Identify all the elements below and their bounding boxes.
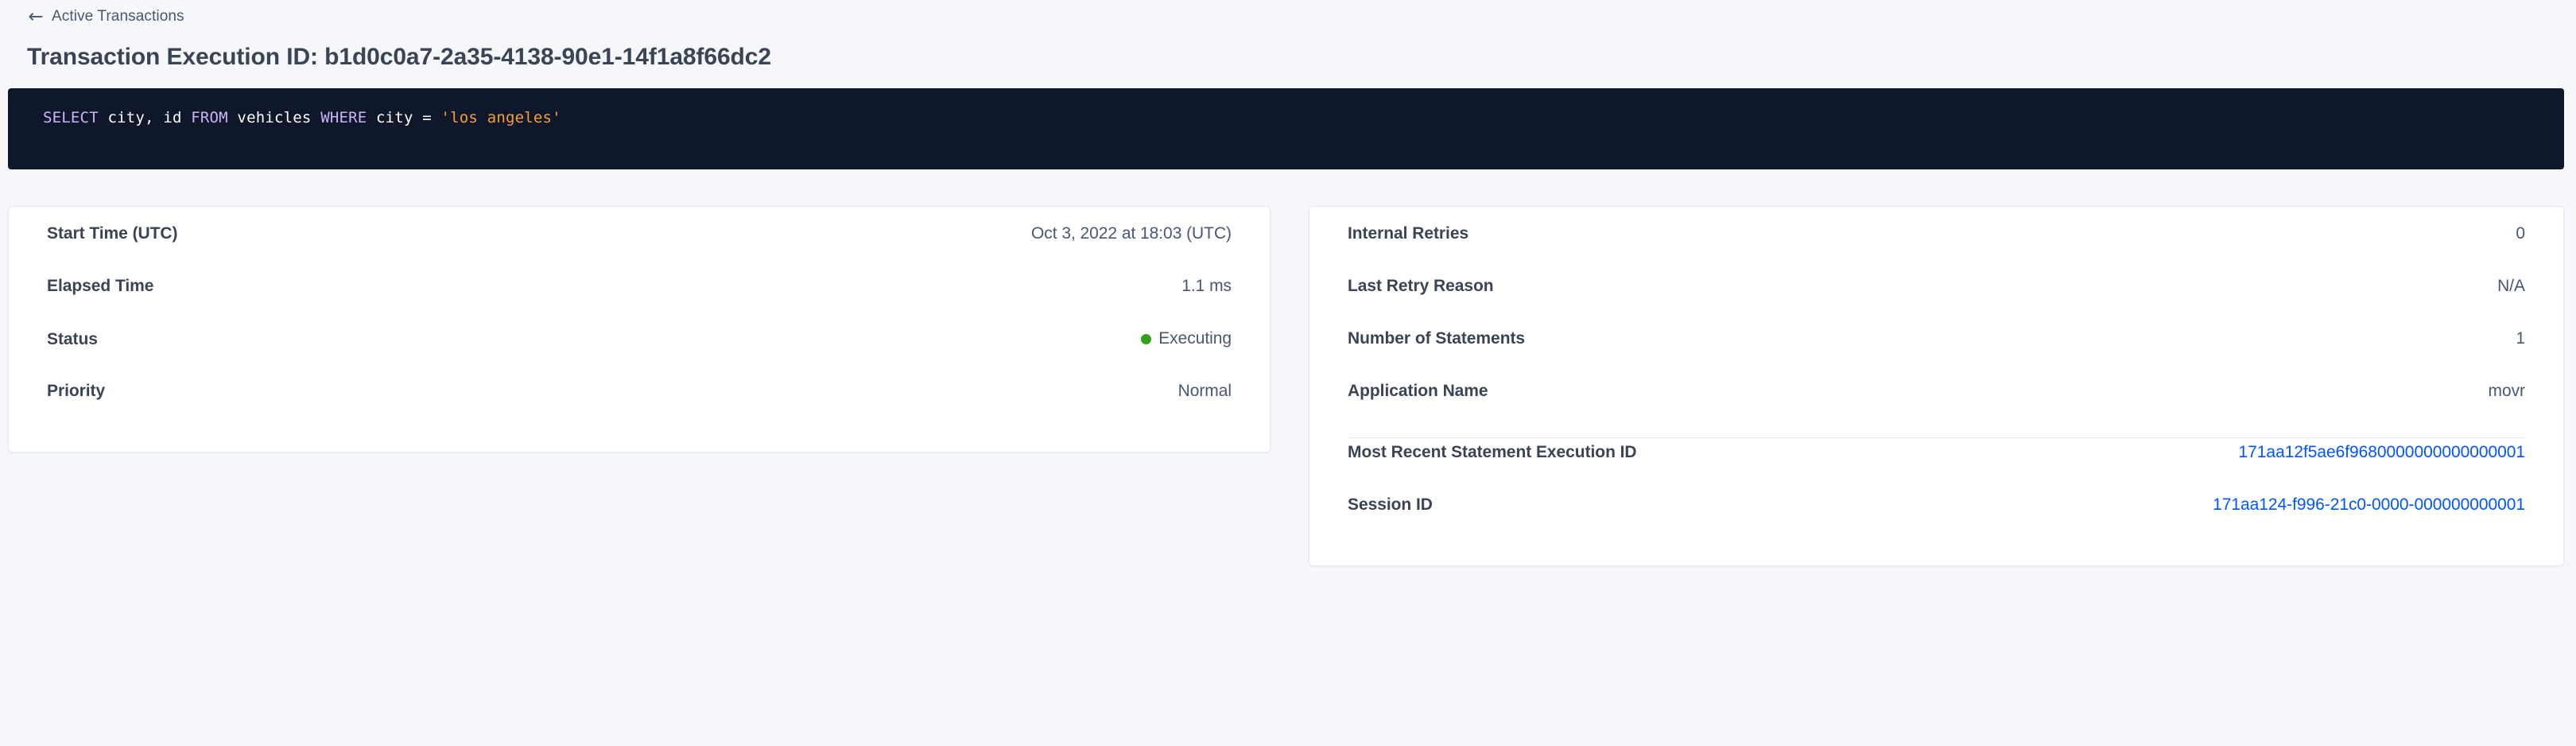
- sql-statement-block: SELECT city, id FROM vehicles WHERE city…: [8, 88, 2564, 169]
- transaction-overview-value: Oct 3, 2022 at 18:03 (UTC): [1031, 224, 1232, 243]
- transaction-overview-label: Elapsed Time: [47, 277, 153, 296]
- transaction-stat-value: 0: [2516, 224, 2525, 243]
- transaction-stat-label: Application Name: [1348, 382, 1488, 401]
- transaction-overview-value: Executing: [1141, 329, 1232, 349]
- transaction-stats-card: Internal Retries0Last Retry ReasonN/ANum…: [1309, 206, 2564, 566]
- transaction-overview-row: Elapsed Time1.1 ms: [47, 277, 1232, 329]
- card-divider: [1348, 437, 2525, 438]
- transaction-overview-label: Start Time (UTC): [47, 224, 178, 243]
- transaction-overview-label: Priority: [47, 382, 105, 401]
- transaction-details-page: ← Active Transactions Transaction Execut…: [0, 0, 2576, 746]
- transaction-overview-label: Status: [47, 330, 98, 349]
- transaction-identifier-rows: Most Recent Statement Execution ID171aa1…: [1348, 443, 2525, 548]
- transaction-identifier-row: Session ID171aa124-f996-21c0-0000-000000…: [1348, 495, 2525, 548]
- transaction-stat-value: N/A: [2497, 277, 2525, 296]
- transaction-stat-label: Last Retry Reason: [1348, 277, 1494, 296]
- transaction-identifier-value[interactable]: 171aa12f5ae6f9680000000000000001: [2239, 443, 2525, 462]
- transaction-stats-rows: Internal Retries0Last Retry ReasonN/ANum…: [1348, 224, 2525, 434]
- transaction-stat-row: Internal Retries0: [1348, 224, 2525, 277]
- transaction-stat-label: Internal Retries: [1348, 224, 1468, 243]
- details-cards-row: Start Time (UTC)Oct 3, 2022 at 18:03 (UT…: [8, 206, 2564, 566]
- sql-statement-text: SELECT city, id FROM vehicles WHERE city…: [43, 107, 2564, 128]
- transaction-stat-row: Last Retry ReasonN/A: [1348, 277, 2525, 329]
- status-badge: Executing: [1141, 329, 1232, 348]
- sql-token-string: 'los angeles': [441, 109, 561, 126]
- transaction-overview-row: PriorityNormal: [47, 382, 1232, 434]
- sql-token-identifier: city, id: [99, 109, 191, 126]
- transaction-stat-row: Number of Statements1: [1348, 329, 2525, 382]
- breadcrumb[interactable]: ← Active Transactions: [16, 0, 2560, 33]
- transaction-overview-value: Normal: [1178, 382, 1232, 401]
- transaction-stat-value: movr: [2489, 382, 2525, 401]
- breadcrumb-link-active-transactions[interactable]: Active Transactions: [52, 8, 184, 25]
- sql-token-identifier: city =: [367, 109, 440, 126]
- sql-token-keyword: FROM: [191, 109, 228, 126]
- sql-token-keyword: WHERE: [320, 109, 367, 126]
- transaction-stat-label: Number of Statements: [1348, 329, 1525, 348]
- transaction-overview-row: Start Time (UTC)Oct 3, 2022 at 18:03 (UT…: [47, 224, 1232, 277]
- transaction-overview-value: 1.1 ms: [1181, 277, 1232, 296]
- page-title: Transaction Execution ID: b1d0c0a7-2a35-…: [16, 44, 2560, 71]
- sql-token-identifier: vehicles: [228, 109, 320, 126]
- arrow-left-icon[interactable]: ←: [28, 9, 44, 25]
- transaction-stat-value: 1: [2516, 329, 2525, 348]
- transaction-identifier-value[interactable]: 171aa124-f996-21c0-0000-000000000001: [2213, 495, 2525, 515]
- transaction-identifier-row: Most Recent Statement Execution ID171aa1…: [1348, 443, 2525, 495]
- transaction-identifier-label: Session ID: [1348, 495, 1433, 515]
- transaction-overview-rows: Start Time (UTC)Oct 3, 2022 at 18:03 (UT…: [47, 224, 1232, 434]
- status-dot-icon: [1141, 334, 1151, 344]
- transaction-stat-row: Application Namemovr: [1348, 382, 2525, 434]
- transaction-overview-card: Start Time (UTC)Oct 3, 2022 at 18:03 (UT…: [8, 206, 1271, 453]
- sql-token-keyword: SELECT: [43, 109, 99, 126]
- status-text: Executing: [1158, 329, 1232, 348]
- transaction-identifier-label: Most Recent Statement Execution ID: [1348, 443, 1637, 462]
- transaction-overview-row: StatusExecuting: [47, 329, 1232, 382]
